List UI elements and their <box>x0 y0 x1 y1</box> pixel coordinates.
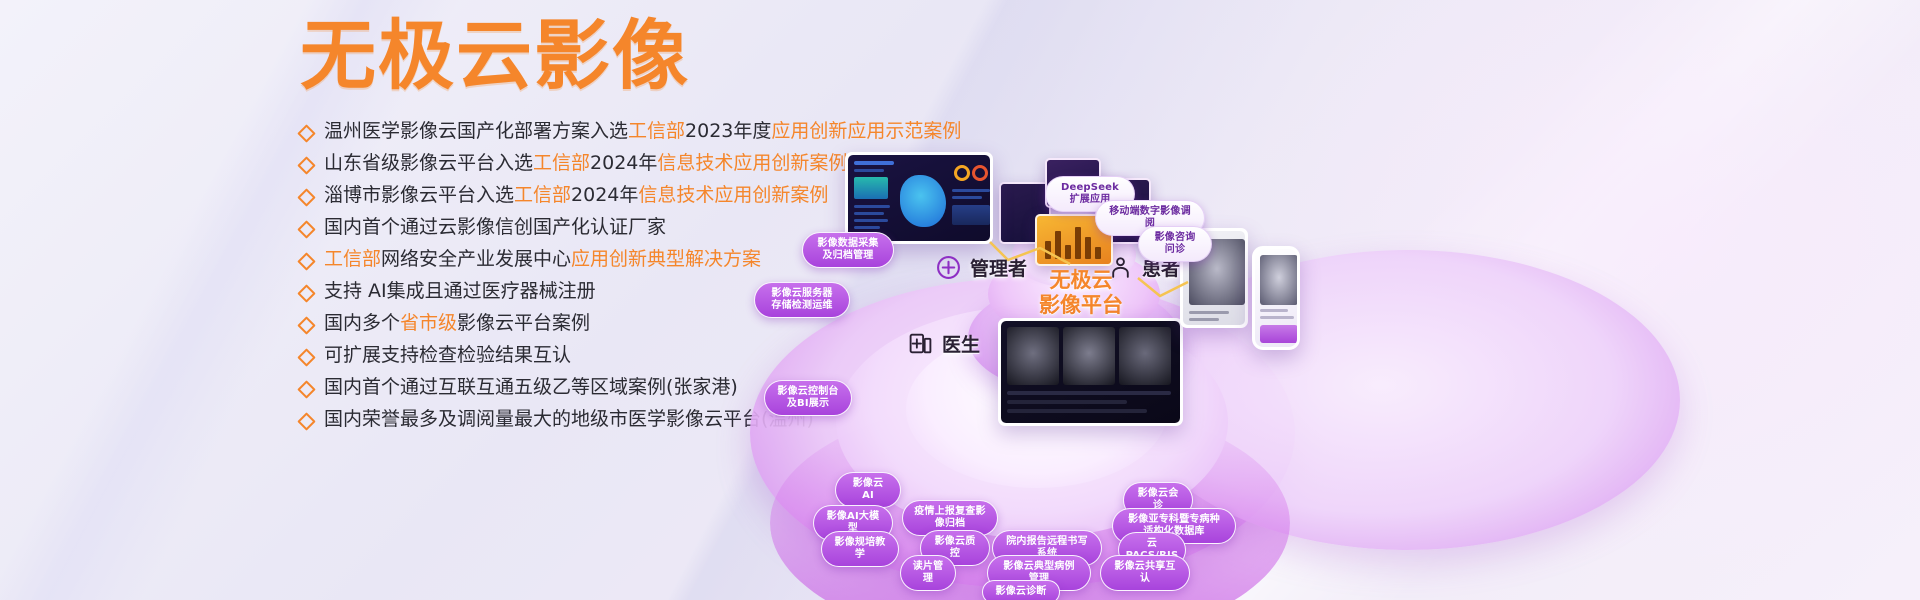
plain-text: 国内首个通过云影像信创国产化认证厂家 <box>324 216 666 238</box>
diamond-bullet-icon <box>297 348 315 366</box>
diamond-bullet-icon <box>297 316 315 334</box>
plain-text: 影像云平台案例 <box>457 312 590 334</box>
pill-p-console[interactable]: 影像云控制台 及BI展示 <box>764 380 852 416</box>
pill-p-film[interactable]: 读片管理 <box>900 555 956 591</box>
plain-text: 淄博市影像云平台入选 <box>324 184 514 206</box>
highlight-text: 省市级 <box>400 312 457 334</box>
feature-list-item-text: 支持 AI集成且通过医疗器械注册 <box>324 280 596 302</box>
diamond-bullet-icon <box>297 124 315 142</box>
page-title: 无极云影像 <box>300 18 940 94</box>
highlight-text: 应用创新典型解决方案 <box>571 248 761 270</box>
diamond-bullet-icon <box>297 156 315 174</box>
plain-text: 可扩展支持检查检验结果互认 <box>324 344 571 366</box>
feature-list-item-text: 工信部网络安全产业发展中心应用创新典型解决方案 <box>324 248 761 270</box>
feature-list-item-text: 国内首个通过互联互通五级乙等区域案例(张家港) <box>324 376 738 398</box>
admin-dashboard-tablet <box>845 152 993 244</box>
feature-list-item-text: 国内首个通过云影像信创国产化认证厂家 <box>324 216 666 238</box>
platform-architecture-diagram: 无极云 影像平台 <box>740 130 1920 600</box>
pill-p-server[interactable]: 影像云服务器 存储检测运维 <box>754 282 850 318</box>
plain-text: 2024年 <box>571 184 638 206</box>
role-doctor-label: 医生 <box>942 330 980 357</box>
doctor-cross-card-icon <box>908 331 933 356</box>
pill-p-advice[interactable]: 影像咨询问诊 <box>1138 226 1212 262</box>
diamond-bullet-icon <box>297 220 315 238</box>
patient-mobile-phone <box>1252 246 1300 350</box>
admin-plus-circle-icon <box>936 255 961 280</box>
pill-p-collect[interactable]: 影像数据采集 及归档管理 <box>802 232 894 268</box>
highlight-text: 工信部 <box>628 120 685 142</box>
banner-canvas: 无极云影像 温州医学影像云国产化部署方案入选工信部2023年度应用创新应用示范案… <box>0 0 1920 600</box>
plain-text: 支持 AI集成且通过医疗器械注册 <box>324 280 596 302</box>
pill-p-share[interactable]: 影像云共享互认 <box>1100 555 1190 591</box>
highlight-text: 工信部 <box>514 184 571 206</box>
diamond-bullet-icon <box>297 412 315 430</box>
highlight-text: 工信部 <box>533 152 590 174</box>
feature-list-item-text: 可扩展支持检查检验结果互认 <box>324 344 571 366</box>
pill-p-diagnose[interactable]: 影像云诊断 <box>982 580 1060 600</box>
diamond-bullet-icon <box>297 252 315 270</box>
patient-person-icon <box>1108 255 1133 280</box>
role-doctor: 医生 <box>908 330 980 357</box>
role-admin: 管理者 <box>936 254 1027 281</box>
plain-text: 国内首个通过互联互通五级乙等区域案例(张家港) <box>324 376 738 398</box>
doctor-workstation-screen <box>998 318 1183 426</box>
diamond-bullet-icon <box>297 284 315 302</box>
plain-text: 温州医学影像云国产化部署方案入选 <box>324 120 628 142</box>
pill-p-ai[interactable]: 影像云AI <box>835 472 901 508</box>
feature-list-item-text: 国内多个省市级影像云平台案例 <box>324 312 590 334</box>
plain-text: 国内多个 <box>324 312 400 334</box>
diamond-bullet-icon <box>297 188 315 206</box>
pill-p-teach[interactable]: 影像规培教学 <box>821 531 899 567</box>
role-admin-label: 管理者 <box>970 254 1027 281</box>
plain-text: 山东省级影像云平台入选 <box>324 152 533 174</box>
highlight-text: 工信部 <box>324 248 381 270</box>
plain-text: 网络安全产业发展中心 <box>381 248 571 270</box>
diamond-bullet-icon <box>297 380 315 398</box>
plain-text: 2024年 <box>590 152 657 174</box>
center-brand-line2: 影像平台 <box>992 293 1170 318</box>
